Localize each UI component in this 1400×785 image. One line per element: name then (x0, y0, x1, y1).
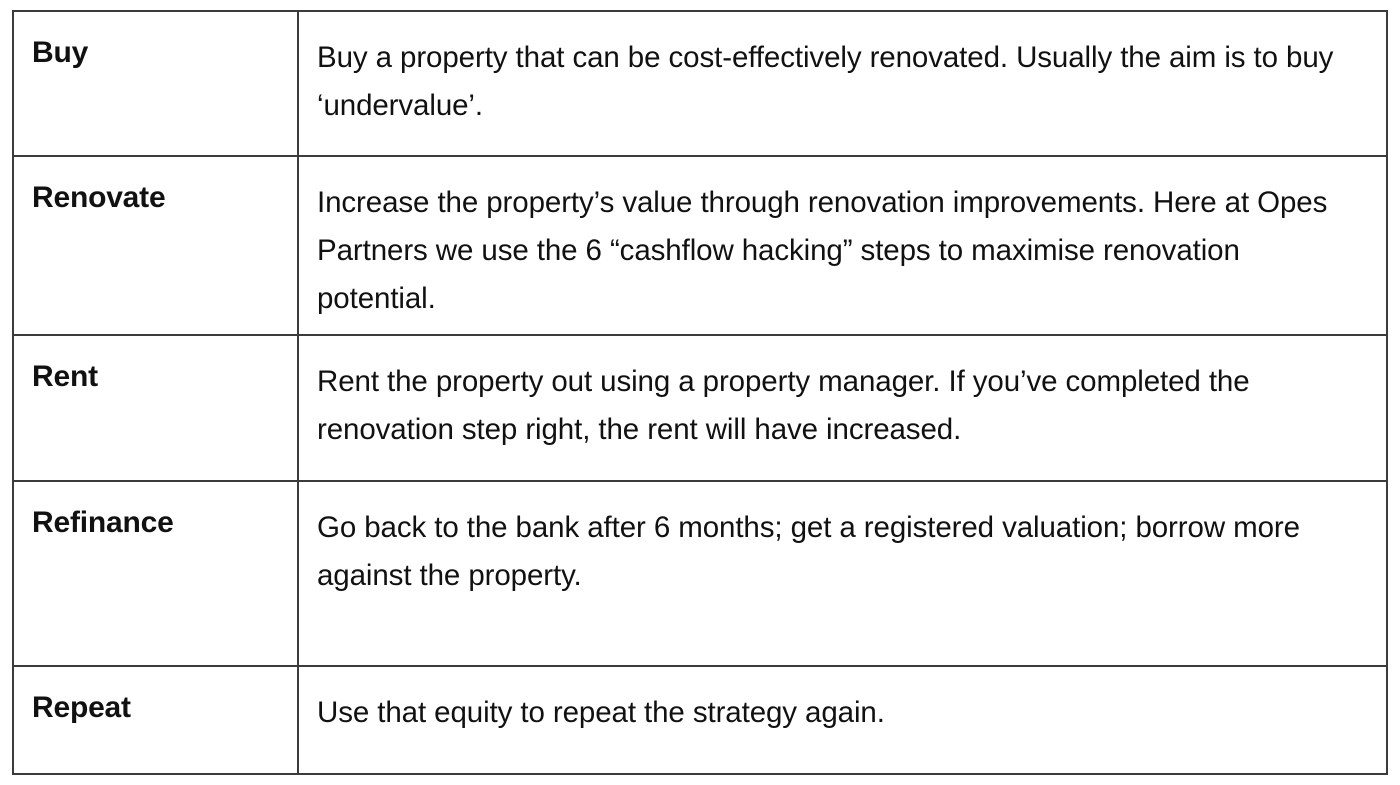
table-row: Refinance Go back to the bank after 6 mo… (13, 481, 1387, 666)
strategy-table-body: Buy Buy a property that can be cost-effe… (13, 11, 1387, 774)
step-name-cell: Refinance (13, 481, 298, 666)
step-name-cell: Buy (13, 11, 298, 156)
table-row: Renovate Increase the property’s value t… (13, 156, 1387, 335)
step-description-refinance: Go back to the bank after 6 months; get … (317, 504, 1356, 600)
step-name-refinance: Refinance (32, 504, 297, 542)
step-description-buy: Buy a property that can be cost-effectiv… (317, 34, 1356, 130)
step-description-cell: Increase the property’s value through re… (298, 156, 1387, 335)
step-name-rent: Rent (32, 358, 297, 396)
step-description-cell: Rent the property out using a property m… (298, 335, 1387, 481)
step-name-cell: Repeat (13, 666, 298, 774)
step-description-repeat: Use that equity to repeat the strategy a… (317, 689, 1356, 737)
step-description-cell: Go back to the bank after 6 months; get … (298, 481, 1387, 666)
table-row: Buy Buy a property that can be cost-effe… (13, 11, 1387, 156)
step-name-cell: Renovate (13, 156, 298, 335)
table-row: Rent Rent the property out using a prope… (13, 335, 1387, 481)
strategy-table-container: Buy Buy a property that can be cost-effe… (12, 10, 1388, 773)
table-row: Repeat Use that equity to repeat the str… (13, 666, 1387, 774)
step-description-cell: Use that equity to repeat the strategy a… (298, 666, 1387, 774)
step-name-buy: Buy (32, 34, 297, 72)
step-description-rent: Rent the property out using a property m… (317, 358, 1356, 454)
step-name-repeat: Repeat (32, 689, 297, 727)
step-description-cell: Buy a property that can be cost-effectiv… (298, 11, 1387, 156)
strategy-table: Buy Buy a property that can be cost-effe… (12, 10, 1388, 775)
step-name-cell: Rent (13, 335, 298, 481)
step-description-renovate: Increase the property’s value through re… (317, 179, 1356, 322)
step-name-renovate: Renovate (32, 179, 297, 217)
